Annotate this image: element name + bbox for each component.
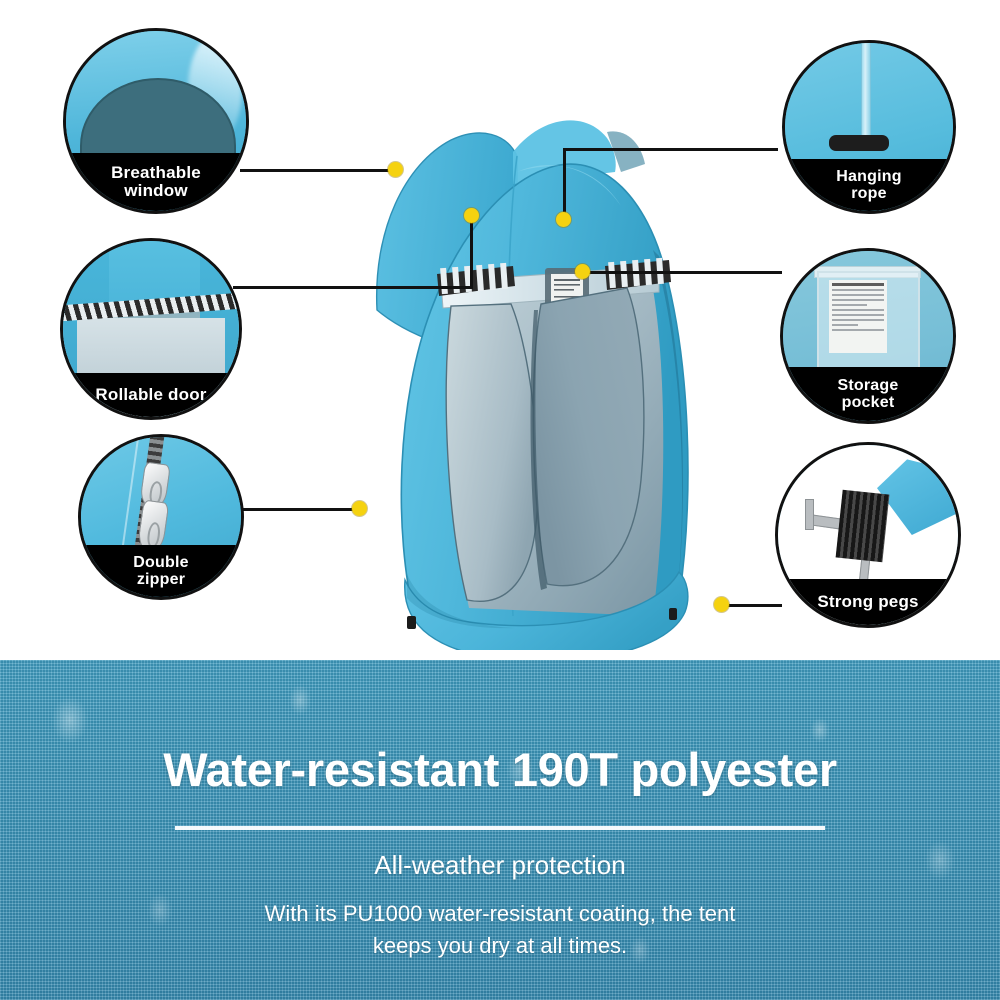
features-section: Breathable window Rollable door [0, 0, 1000, 660]
caption-line-1: Strong pegs [817, 593, 918, 611]
breathable-window-caption: Breathable window [66, 153, 246, 211]
connector-rollable-door-riser [470, 215, 473, 289]
banner-title: Water-resistant 190T polyester [0, 742, 1000, 797]
connector-breathable-window [240, 169, 395, 172]
connector-hanging-rope [563, 148, 778, 151]
banner-subtitle: All-weather protection [0, 850, 1000, 881]
feature-strong-pegs[interactable]: Strong pegs [775, 442, 961, 628]
caption-line-1: Rollable door [95, 386, 206, 404]
water-resistant-banner: Water-resistant 190T polyester All-weath… [0, 660, 1000, 1000]
caption-line-2: pocket [842, 394, 895, 411]
double-zipper-caption: Double zipper [81, 545, 241, 597]
caption-line-1: Double [133, 554, 188, 571]
strong-pegs-caption: Strong pegs [778, 579, 958, 625]
banner-body-line-2: keeps you dry at all times. [0, 930, 1000, 962]
marker-breathable-window [388, 162, 403, 177]
caption-line-1: Hanging [836, 168, 901, 185]
hanging-rope-caption: Hanging rope [785, 159, 953, 211]
caption-line-2: window [124, 182, 188, 200]
caption-line-1: Storage [838, 377, 899, 394]
connector-hanging-rope-riser [563, 148, 566, 221]
banner-body: With its PU1000 water-resistant coating,… [0, 898, 1000, 962]
caption-line-2: rope [851, 185, 886, 202]
rollable-door-caption: Rollable door [63, 373, 239, 417]
feature-breathable-window[interactable]: Breathable window [63, 28, 249, 214]
marker-strong-pegs [714, 597, 729, 612]
connector-double-zipper [235, 508, 360, 511]
marker-double-zipper [352, 501, 367, 516]
connector-rollable-door [233, 286, 473, 289]
connector-strong-pegs [722, 604, 782, 607]
marker-rollable-door [464, 208, 479, 223]
caption-line-2: zipper [137, 571, 185, 588]
marker-hanging-rope [556, 212, 571, 227]
storage-pocket-caption: Storage pocket [783, 367, 953, 421]
banner-divider [175, 826, 825, 830]
caption-line-1: Breathable [111, 164, 201, 182]
marker-storage-pocket [575, 264, 590, 279]
connector-storage-pocket [582, 271, 782, 274]
feature-storage-pocket[interactable]: Storage pocket [780, 248, 956, 424]
feature-hanging-rope[interactable]: Hanging rope [782, 40, 956, 214]
banner-body-line-1: With its PU1000 water-resistant coating,… [0, 898, 1000, 930]
product-infographic: Breathable window Rollable door [0, 0, 1000, 1000]
feature-rollable-door[interactable]: Rollable door [60, 238, 242, 420]
feature-double-zipper[interactable]: Double zipper [78, 434, 244, 600]
